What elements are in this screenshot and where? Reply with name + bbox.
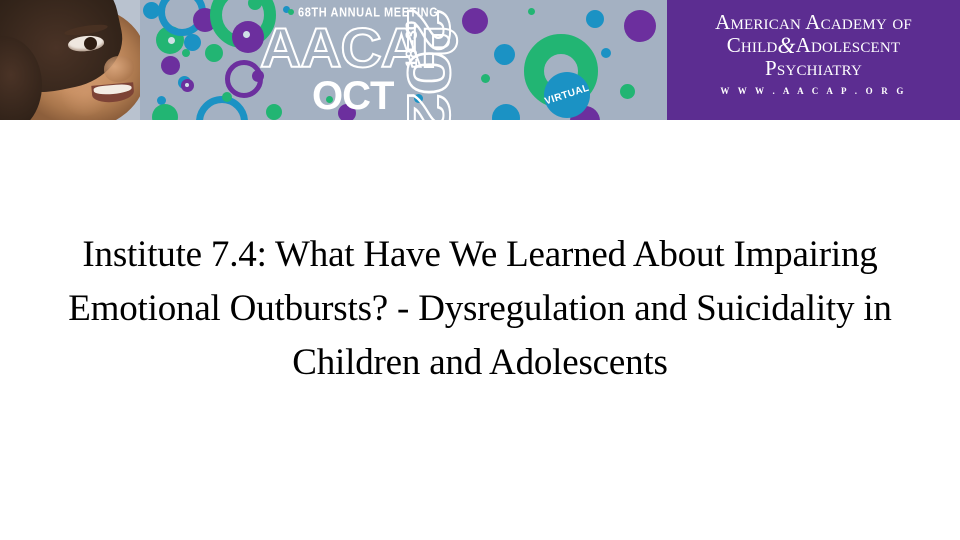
circle-teal-icon [586,10,604,28]
logo-line-1: American Academy of [667,12,960,34]
logo-line-3: Psychiatry [667,58,960,80]
photo-pupil [84,37,97,50]
logo-line-2: Child&Adolescent [667,34,960,58]
circle-purple-icon [624,10,656,42]
ampersand-icon: & [778,33,796,58]
circle-purple-icon [161,56,180,75]
aacap-wordmark-group: 68TH ANNUAL MEETING AACAP OCT 18–30 2021… [262,2,562,118]
circle-green-icon [620,84,635,99]
month-label: OCT [312,76,393,116]
circle-green-icon [222,92,232,102]
circle-teal-icon [184,34,201,51]
page-title: Institute 7.4: What Have We Learned Abou… [48,228,912,390]
circle-teal-icon [601,48,611,58]
circle-green-icon [205,44,223,62]
year-label: 2021 [398,8,458,120]
conference-banner: 68TH ANNUAL MEETING AACAP OCT 18–30 2021… [0,0,960,120]
logo-website-url: W W W . A A C A P . O R G [667,86,960,96]
logo-adolescent-word: Adolescent [796,33,901,57]
aacap-logo-text: American Academy of Child&Adolescent Psy… [667,12,960,96]
circle-dot-icon [168,37,175,44]
title-placeholder: Institute 7.4: What Have We Learned Abou… [48,228,912,390]
photo-teeth [93,83,132,95]
circle-green-icon [152,104,178,120]
virtual-badge-label: VIRTUAL [543,83,590,108]
circle-dot-icon [185,83,189,87]
aacap-logo-block: American Academy of Child&Adolescent Psy… [667,0,960,120]
child-photo [0,0,140,120]
virtual-badge: VIRTUAL [544,72,590,118]
circle-dot-icon [243,31,250,38]
logo-child-word: Child [727,33,778,57]
